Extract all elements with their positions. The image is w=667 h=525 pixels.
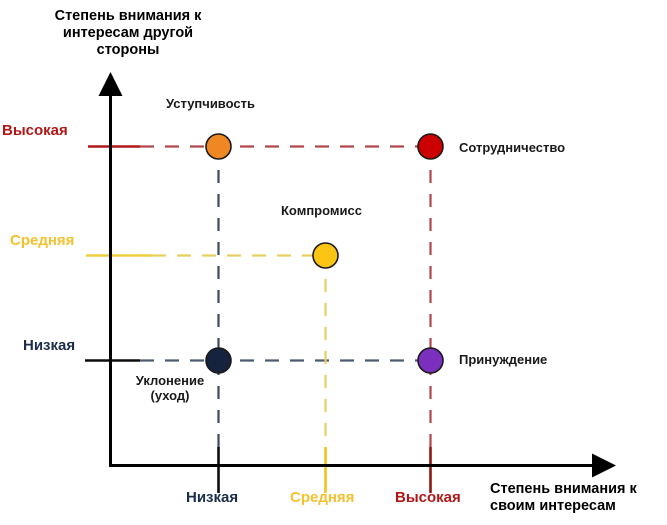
node-label-yielding: Уступчивость <box>166 96 255 111</box>
y-tick-label-low: Низкая <box>23 337 75 355</box>
node-collaboration-marker[interactable] <box>418 134 443 159</box>
x-tick-label-high: Высокая <box>395 489 461 507</box>
node-label-collaboration: Сотрудничество <box>459 140 565 155</box>
x-tick-label-medium: Средняя <box>290 489 354 507</box>
node-coercion-marker[interactable] <box>418 348 443 373</box>
node-label-compromise: Компромисс <box>281 203 362 218</box>
x-tick-label-low: Низкая <box>186 489 238 507</box>
conflict-styles-diagram: Степень внимания к интересам другой стор… <box>0 0 667 525</box>
node-label-coercion: Принуждение <box>459 352 547 367</box>
node-avoidance-marker[interactable] <box>206 348 231 373</box>
node-label-avoidance: Уклонение (уход) <box>122 373 218 404</box>
y-tick-label-high: Высокая <box>2 122 68 140</box>
y-axis-title: Степень внимания к интересам другой стор… <box>28 8 228 59</box>
diagram-canvas <box>0 0 667 525</box>
y-tick-label-medium: Средняя <box>10 232 74 250</box>
node-compromise-marker[interactable] <box>313 243 338 268</box>
x-axis-title: Степень внимания к своим интересам <box>490 481 666 515</box>
node-yielding-marker[interactable] <box>206 134 231 159</box>
